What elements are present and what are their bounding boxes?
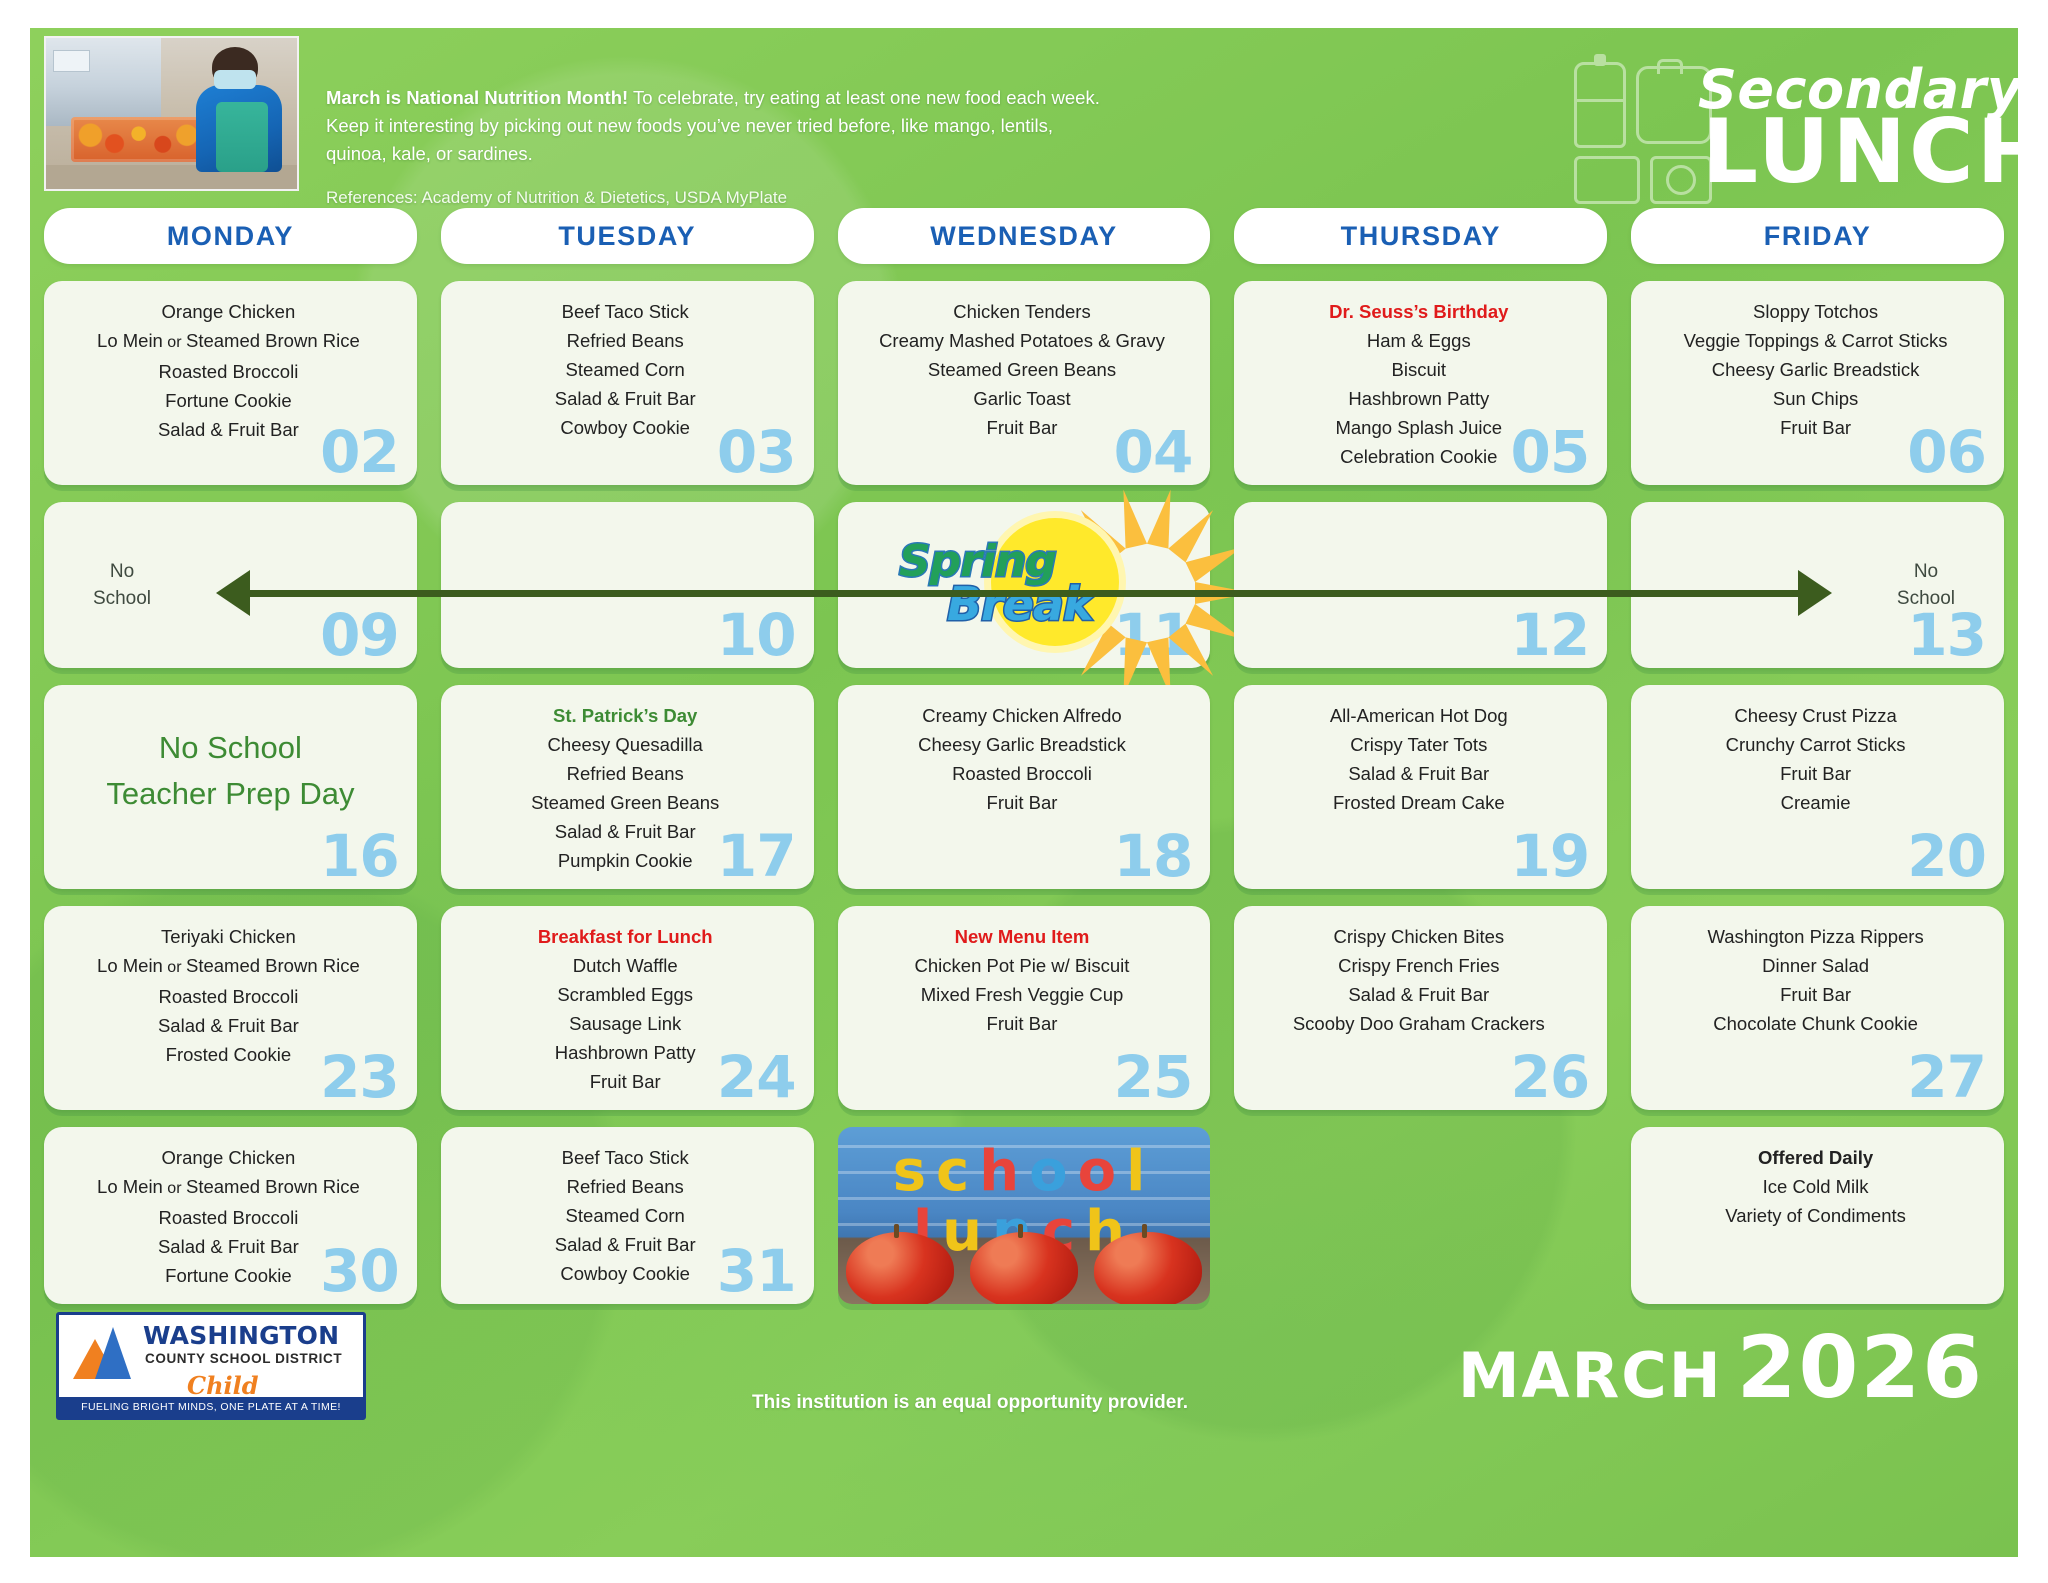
- week-row-4: Teriyaki ChickenLo Mein or Steamed Brown…: [44, 906, 2004, 1110]
- district-subtitle: COUNTY SCHOOL DISTRICT: [145, 1351, 342, 1366]
- menu-item: Salad & Fruit Bar: [1250, 980, 1587, 1009]
- day-header-monday: MONDAY: [44, 208, 417, 264]
- day-cell-31: Beef Taco StickRefried BeansSteamed Corn…: [441, 1127, 814, 1304]
- menu-list: All-American Hot DogCrispy Tater TotsSal…: [1250, 701, 1591, 817]
- nutrition-line3: quinoa, kale, or sardines.: [326, 140, 1226, 168]
- apples-image: [838, 1246, 1211, 1304]
- special-label: New Menu Item: [854, 922, 1191, 951]
- week-row-3: No SchoolTeacher Prep Day16St. Patrick’s…: [44, 685, 2004, 889]
- day-header-tuesday: TUESDAY: [441, 208, 814, 264]
- brand-block: Secondary LUNCH: [1570, 46, 2000, 206]
- menu-item: Steamed Corn: [457, 1201, 794, 1230]
- menu-item: Creamy Mashed Potatoes & Gravy: [854, 326, 1191, 355]
- menu-item: Cheesy Garlic Breadstick: [1647, 355, 1984, 384]
- day-cell-18: Creamy Chicken AlfredoCheesy Garlic Brea…: [838, 685, 1211, 889]
- brand-lunch-text: LUNCH: [1702, 108, 2018, 196]
- day-number: 05: [1510, 423, 1589, 481]
- menu-item: Refried Beans: [457, 759, 794, 788]
- district-mountain-icon: [67, 1323, 137, 1389]
- menu-item: Veggie Toppings & Carrot Sticks: [1647, 326, 1984, 355]
- cafeteria-staff-photo: [44, 36, 299, 191]
- calendar-body: MONDAYTUESDAYWEDNESDAYTHURSDAYFRIDAY Ora…: [30, 200, 2018, 1304]
- photo-word-school: school: [838, 1139, 1211, 1204]
- special-label: St. Patrick’s Day: [457, 701, 794, 730]
- nutrition-message: March is National Nutrition Month! To ce…: [326, 84, 1226, 212]
- day-number: 03: [717, 423, 796, 481]
- menu-item: Variety of Condiments: [1647, 1201, 1984, 1230]
- menu-item: Fruit Bar: [854, 1009, 1191, 1038]
- nutrition-lead-rest: To celebrate, try eating at least one ne…: [628, 87, 1100, 108]
- menu-item: Dinner Salad: [1647, 951, 1984, 980]
- day-number: 06: [1907, 423, 1986, 481]
- menu-item: Lo Mein or Steamed Brown Rice: [60, 951, 397, 982]
- menu-item: Hashbrown Patty: [1250, 384, 1587, 413]
- menu-list: Crispy Chicken BitesCrispy French FriesS…: [1250, 922, 1591, 1038]
- break-word: Break: [947, 577, 1109, 631]
- calendar-page: March is National Nutrition Month! To ce…: [0, 0, 2048, 1583]
- day-number: 30: [320, 1242, 399, 1300]
- day-cell-09: NoSchool09: [44, 502, 417, 668]
- day-number: 18: [1114, 827, 1193, 885]
- menu-item: Garlic Toast: [854, 384, 1191, 413]
- day-number: 02: [320, 423, 399, 481]
- menu-item: Roasted Broccoli: [60, 357, 397, 386]
- menu-item: Refried Beans: [457, 326, 794, 355]
- menu-item: Ham & Eggs: [1250, 326, 1587, 355]
- menu-item: Fruit Bar: [1647, 980, 1984, 1009]
- spring-break-logo: SpringBreak: [899, 510, 1149, 660]
- day-cell-04: Chicken TendersCreamy Mashed Potatoes & …: [838, 281, 1211, 485]
- day-cell-26: Crispy Chicken BitesCrispy French FriesS…: [1234, 906, 1607, 1110]
- day-number: 12: [1510, 606, 1589, 664]
- menu-item: Sausage Link: [457, 1009, 794, 1038]
- day-cell-11: 11SpringBreak: [838, 502, 1211, 668]
- menu-item: Crispy Chicken Bites: [1250, 922, 1587, 951]
- day-number: 20: [1907, 827, 1986, 885]
- menu-item: Frosted Dream Cake: [1250, 788, 1587, 817]
- menu-item: Cheesy Garlic Breadstick: [854, 730, 1191, 759]
- menu-item: All-American Hot Dog: [1250, 701, 1587, 730]
- day-cell-03: Beef Taco StickRefried BeansSteamed Corn…: [441, 281, 814, 485]
- day-cell-30: Orange ChickenLo Mein or Steamed Brown R…: [44, 1127, 417, 1304]
- district-logo: WASHINGTON COUNTY SCHOOL DISTRICT Child …: [56, 1312, 366, 1420]
- offered-daily-title: Offered Daily: [1647, 1143, 1984, 1172]
- spring-break-text: SpringBreak: [899, 536, 1109, 631]
- milk-bottle-icon: [1574, 62, 1626, 148]
- menu-item: Steamed Green Beans: [457, 788, 794, 817]
- day-cell-23: Teriyaki ChickenLo Mein or Steamed Brown…: [44, 906, 417, 1110]
- day-header-friday: FRIDAY: [1631, 208, 2004, 264]
- special-label: Breakfast for Lunch: [457, 922, 794, 951]
- day-number: 19: [1510, 827, 1589, 885]
- nutrition-line2: Keep it interesting by picking out new f…: [326, 112, 1226, 140]
- menu-item: Crispy French Fries: [1250, 951, 1587, 980]
- district-tagline: FUELING BRIGHT MINDS, ONE PLATE AT A TIM…: [59, 1397, 363, 1417]
- menu-item: Orange Chicken: [60, 297, 397, 326]
- day-cell-25: New Menu ItemChicken Pot Pie w/ BiscuitM…: [838, 906, 1211, 1110]
- menu-item: Orange Chicken: [60, 1143, 397, 1172]
- nutrition-headline: March is National Nutrition Month!: [326, 87, 628, 108]
- menu-item: Fruit Bar: [854, 788, 1191, 817]
- day-header-wednesday: WEDNESDAY: [838, 208, 1211, 264]
- menu-item: Fortune Cookie: [60, 386, 397, 415]
- menu-item: Chocolate Chunk Cookie: [1647, 1009, 1984, 1038]
- menu-item: Salad & Fruit Bar: [60, 1011, 397, 1040]
- no-school-note: NoSchool: [62, 558, 182, 612]
- menu-item: Ice Cold Milk: [1647, 1172, 1984, 1201]
- menu-item: Roasted Broccoli: [60, 982, 397, 1011]
- menu-item: Mixed Fresh Veggie Cup: [854, 980, 1191, 1009]
- menu-item: Roasted Broccoli: [60, 1203, 397, 1232]
- menu-list: Creamy Chicken AlfredoCheesy Garlic Brea…: [854, 701, 1195, 817]
- day-cell-12: 12: [1234, 502, 1607, 668]
- menu-item: Beef Taco Stick: [457, 297, 794, 326]
- day-number: 10: [717, 606, 796, 664]
- menu-item: Teriyaki Chicken: [60, 922, 397, 951]
- day-cell-13: NoSchool13: [1631, 502, 2004, 668]
- menu-item: Salad & Fruit Bar: [1250, 759, 1587, 788]
- menu-list: New Menu ItemChicken Pot Pie w/ BiscuitM…: [854, 922, 1195, 1038]
- day-cell-19: All-American Hot DogCrispy Tater TotsSal…: [1234, 685, 1607, 889]
- menu-item: Salad & Fruit Bar: [457, 384, 794, 413]
- menu-item: Chicken Pot Pie w/ Biscuit: [854, 951, 1191, 980]
- menu-item: Cheesy Crust Pizza: [1647, 701, 1984, 730]
- day-header-row: MONDAYTUESDAYWEDNESDAYTHURSDAYFRIDAY: [44, 208, 2004, 264]
- day-number: 31: [717, 1242, 796, 1300]
- menu-item: Crispy Tater Tots: [1250, 730, 1587, 759]
- weeks-container: Orange ChickenLo Mein or Steamed Brown R…: [44, 281, 2004, 1304]
- day-number: 23: [320, 1048, 399, 1106]
- menu-item: Scooby Doo Graham Crackers: [1250, 1009, 1587, 1038]
- menu-item: Fruit Bar: [1647, 759, 1984, 788]
- menu-item: Washington Pizza Rippers: [1647, 922, 1984, 951]
- menu-item: Biscuit: [1250, 355, 1587, 384]
- menu-item: Chicken Tenders: [854, 297, 1191, 326]
- menu-list: Cheesy Crust PizzaCrunchy Carrot SticksF…: [1647, 701, 1988, 817]
- week-row-1: Orange ChickenLo Mein or Steamed Brown R…: [44, 281, 2004, 485]
- week-row-2: NoSchool091011SpringBreak12NoSchool13: [44, 502, 2004, 668]
- day-cell-06: Sloppy TotchosVeggie Toppings & Carrot S…: [1631, 281, 2004, 485]
- menu-item: Cheesy Quesadilla: [457, 730, 794, 759]
- day-number: 26: [1510, 1048, 1589, 1106]
- menu-list: Washington Pizza RippersDinner SaladFrui…: [1647, 922, 1988, 1038]
- day-cell-05: Dr. Seuss’s BirthdayHam & EggsBiscuitHas…: [1234, 281, 1607, 485]
- day-number: 27: [1907, 1048, 1986, 1106]
- calendar-sheet: March is National Nutrition Month! To ce…: [30, 28, 2018, 1557]
- menu-item: Sun Chips: [1647, 384, 1984, 413]
- menu-item: Crunchy Carrot Sticks: [1647, 730, 1984, 759]
- day-cell-16: No SchoolTeacher Prep Day16: [44, 685, 417, 889]
- day-cell-20: Cheesy Crust PizzaCrunchy Carrot SticksF…: [1631, 685, 2004, 889]
- day-number: 24: [717, 1048, 796, 1106]
- day-header-thursday: THURSDAY: [1234, 208, 1607, 264]
- day-number: 16: [320, 827, 399, 885]
- day-number: 25: [1114, 1048, 1193, 1106]
- school-lunch-photo: schoollunch: [838, 1127, 1211, 1304]
- menu-item: Scrambled Eggs: [457, 980, 794, 1009]
- info-cell: Offered DailyIce Cold MilkVariety of Con…: [1631, 1127, 2004, 1304]
- header: March is National Nutrition Month! To ce…: [30, 28, 2018, 200]
- day-cell-27: Washington Pizza RippersDinner SaladFrui…: [1631, 906, 2004, 1110]
- menu-item: Beef Taco Stick: [457, 1143, 794, 1172]
- no-school-message: No SchoolTeacher Prep Day: [60, 701, 401, 817]
- day-cell-10: 10: [441, 502, 814, 668]
- equal-opportunity-statement: This institution is an equal opportunity…: [590, 1392, 1350, 1414]
- menu-item: Roasted Broccoli: [854, 759, 1191, 788]
- menu-item: Dutch Waffle: [457, 951, 794, 980]
- day-cell-17: St. Patrick’s DayCheesy QuesadillaRefrie…: [441, 685, 814, 889]
- menu-item: Steamed Corn: [457, 355, 794, 384]
- menu-item: Creamie: [1647, 788, 1984, 817]
- day-number: 04: [1114, 423, 1193, 481]
- year-label: 2026: [1737, 1318, 1984, 1418]
- menu-item: Refried Beans: [457, 1172, 794, 1201]
- day-number: 13: [1907, 606, 1986, 664]
- day-number: 17: [717, 827, 796, 885]
- menu-item: Creamy Chicken Alfredo: [854, 701, 1191, 730]
- day-cell-02: Orange ChickenLo Mein or Steamed Brown R…: [44, 281, 417, 485]
- footer: WASHINGTON COUNTY SCHOOL DISTRICT Child …: [30, 1308, 2018, 1428]
- special-label: Dr. Seuss’s Birthday: [1250, 297, 1587, 326]
- district-name: WASHINGTON: [143, 1321, 339, 1350]
- menu-item: Lo Mein or Steamed Brown Rice: [60, 1172, 397, 1203]
- week-row-5: Orange ChickenLo Mein or Steamed Brown R…: [44, 1127, 2004, 1304]
- month-label: MARCH: [1458, 1339, 1723, 1412]
- menu-item: Lo Mein or Steamed Brown Rice: [60, 326, 397, 357]
- day-number: 09: [320, 606, 399, 664]
- day-cell-24: Breakfast for LunchDutch WaffleScrambled…: [441, 906, 814, 1110]
- month-year-title: MARCH2026: [1458, 1318, 1984, 1418]
- menu-item: Sloppy Totchos: [1647, 297, 1984, 326]
- menu-item: Steamed Green Beans: [854, 355, 1191, 384]
- sandwich-icon: [1574, 156, 1640, 204]
